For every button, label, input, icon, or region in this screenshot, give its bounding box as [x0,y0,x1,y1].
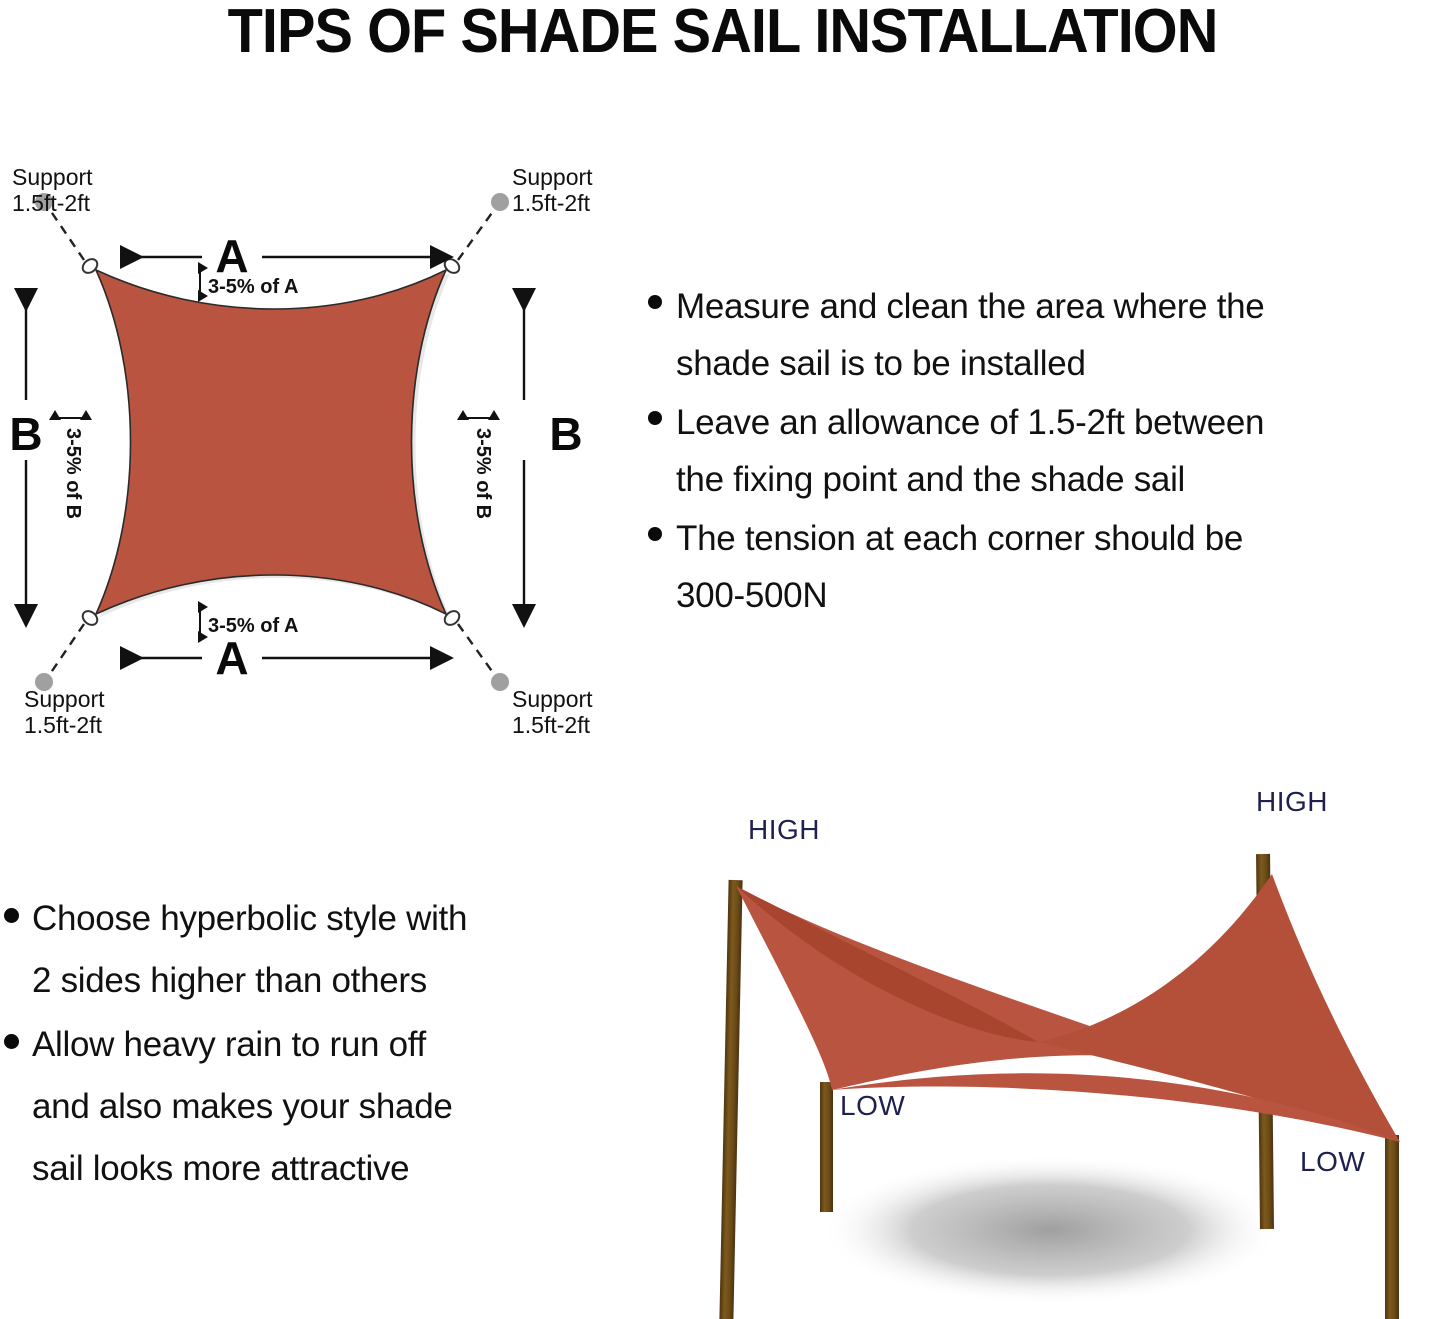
bullet-dot-icon [648,295,662,309]
sag-label-b-right: 3-5% of B [472,428,494,519]
list-item-line: shade sail is to be installed [676,344,1086,383]
support-dot-top-right [491,193,509,211]
ground-shadow [820,1155,1280,1305]
tie-line-bottom-right [458,624,494,674]
support-caption-top-right: Support 1.5ft-2ft [512,164,593,216]
installation-tips-list: Measure and clean the area where the sha… [648,278,1445,626]
shade-sail-shape [96,270,450,617]
hyperbolic-style-tips-list: Choose hyperbolic style with 2 sides hig… [4,888,624,1202]
list-item-line: The tension at each corner should be [676,519,1243,558]
list-item: Choose hyperbolic style with 2 sides hig… [4,888,624,1012]
svg-text:1.5ft-2ft: 1.5ft-2ft [512,712,591,738]
list-item-line: Leave an allowance of 1.5-2ft between [676,403,1264,442]
list-item-line: 300-500N [676,576,827,615]
svg-text:Support: Support [512,686,593,712]
svg-text:Support: Support [512,164,593,190]
svg-text:Support: Support [12,164,93,190]
svg-text:1.5ft-2ft: 1.5ft-2ft [12,190,91,216]
dim-label-b-right: B [549,408,582,460]
dim-label-b-left: B [9,408,42,460]
hyperbolic-sail-diagram: HIGH HIGH LOW LOW [640,790,1445,1319]
page-title: TIPS OF SHADE SAIL INSTALLATION [51,0,1395,67]
bullet-dot-icon [648,411,662,425]
list-item: Allow heavy rain to run off and also mak… [4,1014,624,1200]
pole-low-left [820,1082,833,1212]
tie-line-top-right [458,210,494,260]
svg-text:1.5ft-2ft: 1.5ft-2ft [512,190,591,216]
list-item-line: Choose hyperbolic style with [32,899,467,938]
list-item-line: sail looks more attractive [32,1149,409,1188]
bullet-dot-icon [4,908,19,923]
list-item: The tension at each corner should be 300… [648,510,1445,624]
label-low-left: LOW [840,1090,905,1122]
list-item-line: and also makes your shade [32,1087,453,1126]
list-item: Measure and clean the area where the sha… [648,278,1445,392]
svg-text:1.5ft-2ft: 1.5ft-2ft [24,712,103,738]
bullet-dot-icon [648,527,662,541]
support-caption-bottom-left: Support 1.5ft-2ft [24,686,105,738]
bullet-dot-icon [4,1034,19,1049]
svg-text:Support: Support [24,686,105,712]
dim-label-a-top: A [215,230,248,282]
support-dot-bottom-right [491,673,509,691]
pole-low-right [1385,1135,1399,1319]
infographic-page: TIPS OF SHADE SAIL INSTALLATION [0,0,1445,1319]
list-item-line: Measure and clean the area where the [676,287,1264,326]
rect-sail-diagram: A 3-5% of A A 3-5% of A B [0,160,660,740]
label-high-right: HIGH [1256,786,1328,818]
tie-line-top-left [50,210,84,260]
dim-label-a-bottom: A [215,632,248,684]
label-high-left: HIGH [748,814,820,846]
support-caption-bottom-right: Support 1.5ft-2ft [512,686,593,738]
list-item-line: 2 sides higher than others [32,961,427,1000]
sag-label-a-bottom: 3-5% of A [208,615,298,637]
list-item-line: the fixing point and the shade sail [676,460,1185,499]
support-caption-top-left: Support 1.5ft-2ft [12,164,93,216]
list-item: Leave an allowance of 1.5-2ft between th… [648,394,1445,508]
pole-high-left [719,880,742,1319]
sag-label-a-top: 3-5% of A [208,276,298,298]
label-low-right: LOW [1300,1146,1365,1178]
tie-line-bottom-left [50,624,84,674]
list-item-line: Allow heavy rain to run off [32,1025,426,1064]
sag-label-b-left: 3-5% of B [62,428,84,519]
